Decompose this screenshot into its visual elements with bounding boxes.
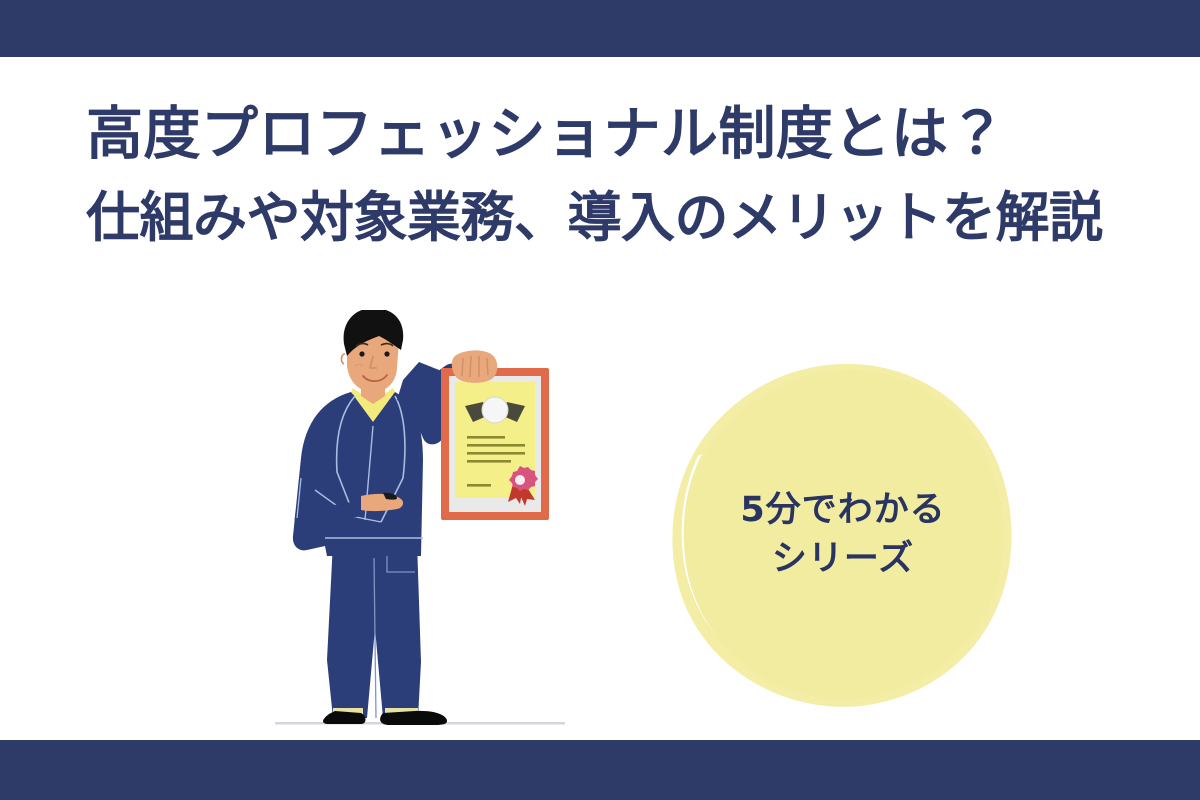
ear-shape: [341, 354, 345, 364]
shoe-right-shape: [380, 711, 447, 725]
title-line-2: 仕組みや対象業務、導入のメリットを解説: [86, 176, 1146, 260]
page-title: 高度プロフェッショナル制度とは？ 仕組みや対象業務、導入のメリットを解説: [86, 92, 1146, 260]
bottom-navy-band: [0, 740, 1200, 800]
finger-crease-4: [487, 358, 488, 375]
shoe-left-shape: [323, 711, 366, 724]
certificate-text-line: [467, 436, 505, 439]
certificate-text-line: [467, 460, 511, 463]
top-navy-band: [0, 0, 1200, 57]
eye-left: [359, 351, 364, 356]
left-hand-shape: [452, 350, 497, 383]
finger-crease-2: [470, 356, 471, 377]
finger-crease-1: [462, 358, 463, 376]
businessman-illustration: [255, 310, 585, 740]
title-line-1: 高度プロフェッショナル制度とは？: [86, 92, 1146, 176]
certificate-rosette-center: [515, 475, 525, 485]
certificate-signature-line: [467, 484, 491, 487]
certificate-seal: [482, 397, 508, 423]
eye-right: [384, 351, 389, 356]
series-badge: 5分でわかる シリーズ: [668, 360, 1018, 710]
certificate-text-line: [467, 444, 525, 447]
page-canvas: 高度プロフェッショナル制度とは？ 仕組みや対象業務、導入のメリットを解説: [0, 0, 1200, 800]
certificate-text-line: [467, 452, 525, 455]
